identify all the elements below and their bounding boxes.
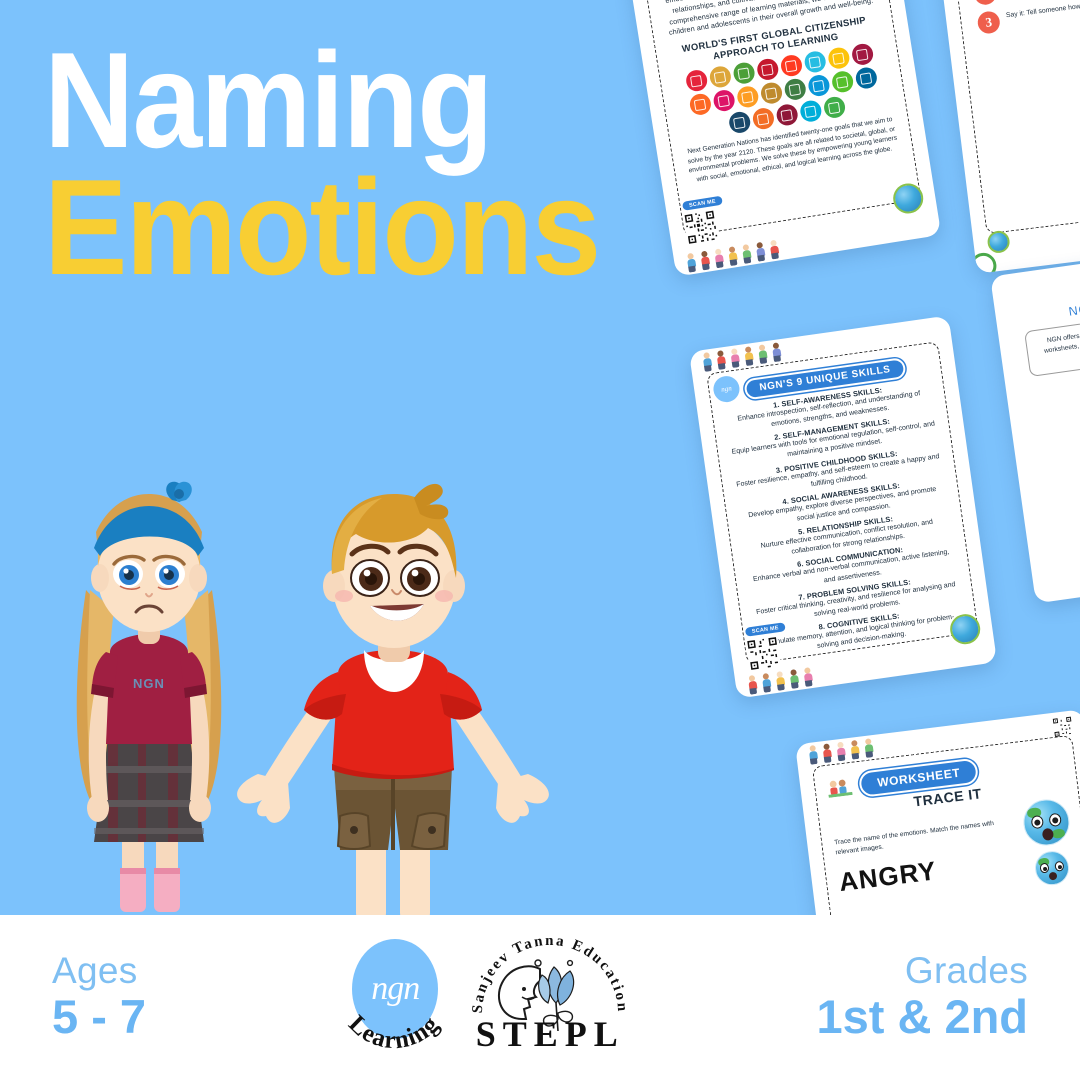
goal-icon [712, 88, 736, 112]
ages-block: Ages 5 - 7 [52, 952, 146, 1043]
card-name-your-emotions[interactable]: thoughts, and feelings. Naming your emot… [929, 0, 1080, 274]
grades-label: Grades [816, 952, 1028, 991]
happy-earth-icon [1033, 849, 1071, 887]
happy-boy-illustration [228, 478, 558, 930]
goal-icon [850, 42, 874, 66]
stepl-wordmark: STEPL [466, 1013, 634, 1055]
card-about[interactable]: ngn With NGN SEEL's learning materials u… [619, 0, 942, 277]
ngn-learning-logo[interactable]: ngn Learning [328, 927, 460, 1069]
ages-value: 5 - 7 [52, 991, 146, 1043]
card-about-content: ngn With NGN SEEL's learning materials u… [637, 0, 922, 237]
step-item: 3 Say it: Tell someone how you feel. [977, 0, 1080, 35]
goal-icon [854, 66, 878, 90]
goal-icon [755, 57, 779, 81]
footer-bar: Ages 5 - 7 ngn Learning Sa [0, 915, 1080, 1080]
globe-badge-icon [986, 230, 1011, 255]
goal-icon [727, 110, 751, 134]
goal-icon [806, 73, 830, 97]
svg-text:Learning: Learning [343, 1010, 445, 1054]
card-name-emotions-content: thoughts, and feelings. Naming your emot… [946, 0, 1080, 234]
title-line-emotions: Emotions [44, 161, 599, 294]
card-skills-content: ngn NGN'S 9 UNIQUE SKILLS 1. SELF-AWAREN… [706, 341, 979, 665]
goal-icon [822, 95, 846, 119]
step-number-2: 2 [973, 0, 998, 6]
card-nine-skills[interactable]: ngn NGN'S 9 UNIQUE SKILLS 1. SELF-AWAREN… [689, 315, 997, 698]
character-happy-boy [228, 478, 558, 930]
page-title: Naming Emotions [44, 34, 648, 295]
qr-code-icon[interactable] [1052, 716, 1074, 738]
girl-shirt-logo: NGN [133, 676, 165, 691]
title-line-naming: Naming [44, 34, 599, 167]
angry-earth-icon [1021, 797, 1072, 848]
goal-icon [751, 106, 775, 130]
goal-icon [708, 65, 732, 89]
scan-me-qr[interactable]: SCAN ME [681, 195, 730, 251]
product-cards-collage: ngn With NGN SEEL's learning materials u… [600, 0, 1080, 940]
goal-icon [684, 68, 708, 92]
kids-illustration-icon [827, 777, 853, 798]
stepl-logo[interactable]: Sanjeev Tanna Education STEPL [466, 927, 634, 1069]
logo-group: ngn Learning Sanjeev Tanna Education [328, 927, 634, 1069]
grades-value: 1st & 2nd [816, 991, 1028, 1043]
goal-icon [826, 46, 850, 70]
goal-icon [798, 99, 822, 123]
qr-code-icon [683, 209, 720, 246]
grades-block: Grades 1st & 2nd [816, 952, 1028, 1043]
step-number-3: 3 [977, 11, 1002, 36]
seel-heading: NGN SEEL [1021, 288, 1080, 326]
ngn-learning-arc-text: Learning [328, 927, 460, 1069]
qr-code-icon [746, 635, 782, 671]
circle-accent-icon [969, 251, 998, 273]
goal-icon [783, 77, 807, 101]
scan-me-qr[interactable]: SCAN ME [744, 621, 793, 676]
goal-icon [732, 61, 756, 85]
step-text-3: Say it: Tell someone how you feel. [1005, 0, 1080, 21]
goal-icon [803, 50, 827, 74]
poster-canvas: Naming Emotions [0, 0, 1080, 1080]
goal-icon [830, 70, 854, 94]
goal-icon [775, 103, 799, 127]
ages-label: Ages [52, 952, 146, 991]
goal-icon [688, 92, 712, 116]
card-seel-content: NGN SEEL NGN offers a complete setup of … [1008, 274, 1080, 564]
goal-icon [779, 53, 803, 77]
card-ngn-seel[interactable]: NGN SEEL NGN offers a complete setup of … [990, 247, 1080, 604]
goal-icon [759, 81, 783, 105]
goal-icon [735, 85, 759, 109]
